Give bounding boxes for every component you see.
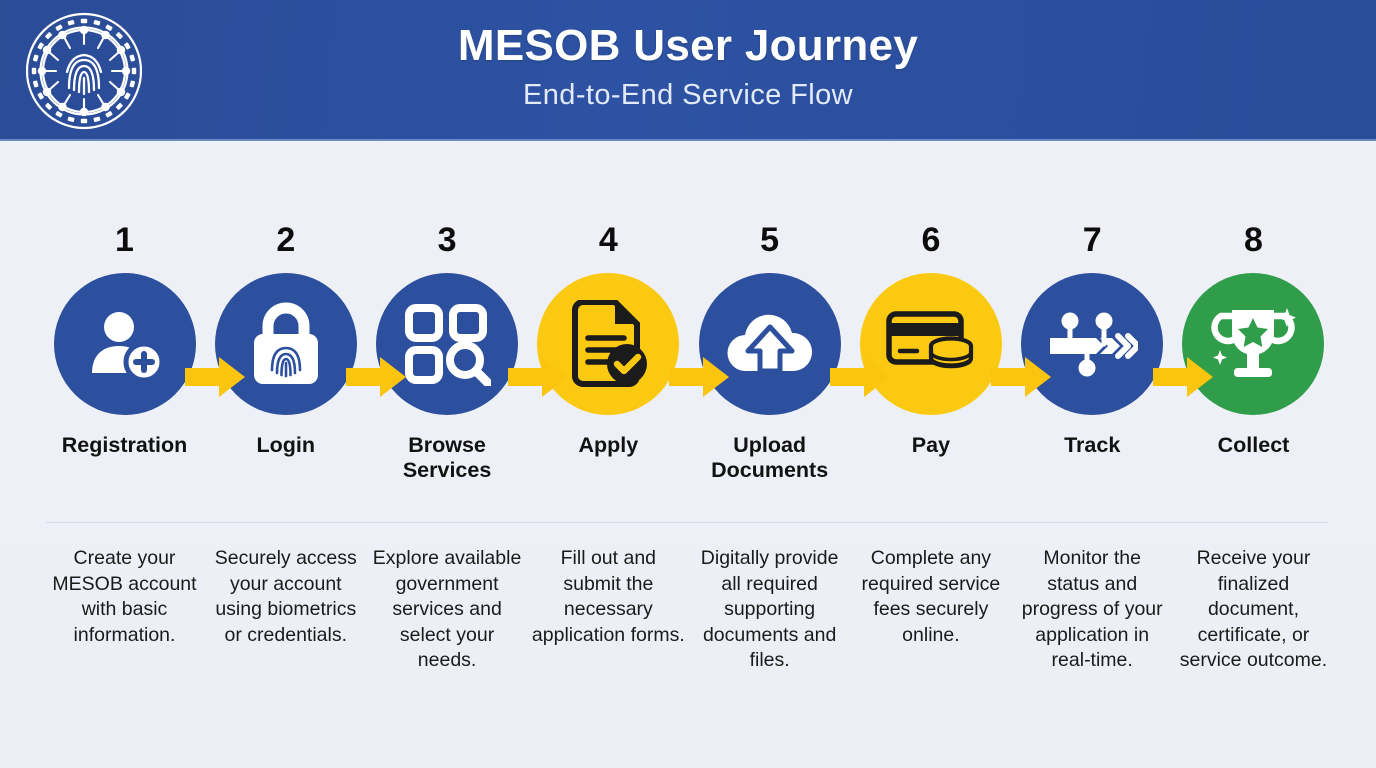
mesob-logo <box>18 8 150 134</box>
cloud-upload-icon <box>724 309 816 379</box>
page-subtitle: End-to-End Service Flow <box>458 80 918 112</box>
timeline-tracking-icon <box>1046 308 1138 380</box>
step-circle-registration[interactable] <box>54 273 196 415</box>
step-label: Upload Documents <box>695 433 845 484</box>
step-circle-browse-services[interactable] <box>376 273 518 415</box>
step-5[interactable]: 5Upload Documents <box>689 223 850 484</box>
step-description: Create your MESOB account with basic inf… <box>44 546 205 648</box>
grid-search-icon <box>403 302 491 386</box>
step-label: Registration <box>62 433 187 458</box>
document-check-icon <box>567 300 649 388</box>
infographic-page: MESOB User Journey End-to-End Service Fl… <box>0 0 1376 768</box>
step-circle-apply[interactable] <box>537 273 679 415</box>
fingerprint-seal-logo-icon <box>21 10 147 132</box>
step-description: Complete any required service fees secur… <box>850 546 1011 648</box>
step-7[interactable]: 7Track <box>1012 223 1173 458</box>
step-label: Pay <box>912 433 950 458</box>
step-label: Login <box>257 433 316 458</box>
page-header: MESOB User Journey End-to-End Service Fl… <box>0 0 1376 141</box>
step-number: 1 <box>115 223 134 257</box>
step-6[interactable]: 6Pay <box>850 223 1011 458</box>
step-circle-login[interactable] <box>215 273 357 415</box>
step-circle-pay[interactable] <box>860 273 1002 415</box>
step-4[interactable]: 4Apply <box>528 223 689 458</box>
step-description: Securely access your account using biome… <box>205 546 366 648</box>
step-number: 8 <box>1244 223 1263 257</box>
step-2[interactable]: 2Login <box>205 223 366 458</box>
step-description: Monitor the status and progress of your … <box>1012 546 1173 674</box>
credit-card-coins-icon <box>885 306 977 382</box>
step-number: 7 <box>1083 223 1102 257</box>
step-description: Digitally provide all required supportin… <box>689 546 850 674</box>
section-divider <box>46 522 1328 523</box>
step-description: Explore available government services an… <box>367 546 528 674</box>
step-8[interactable]: 8Collect <box>1173 223 1334 458</box>
step-number: 4 <box>599 223 618 257</box>
trophy-star-icon <box>1208 302 1298 386</box>
step-number: 3 <box>438 223 457 257</box>
step-label: Apply <box>578 433 638 458</box>
step-number: 6 <box>921 223 940 257</box>
step-label: Track <box>1064 433 1120 458</box>
add-user-icon <box>82 301 168 387</box>
descriptions-row: Create your MESOB account with basic inf… <box>44 546 1334 674</box>
header-text-block: MESOB User Journey End-to-End Service Fl… <box>458 23 918 115</box>
step-3[interactable]: 3Browse Services <box>367 223 528 484</box>
step-circle-track[interactable] <box>1021 273 1163 415</box>
page-title: MESOB User Journey <box>458 23 918 69</box>
step-number: 2 <box>276 223 295 257</box>
step-description: Receive your finalized document, certifi… <box>1173 546 1334 674</box>
steps-row: 1Registration2Login3Browse Services4Appl… <box>44 223 1334 484</box>
step-1[interactable]: 1Registration <box>44 223 205 458</box>
step-label: Browse Services <box>372 433 522 484</box>
step-circle-upload-documents[interactable] <box>699 273 841 415</box>
step-label: Collect <box>1218 433 1290 458</box>
step-number: 5 <box>760 223 779 257</box>
journey-flow: 1Registration2Login3Browse Services4Appl… <box>0 141 1376 768</box>
step-circle-collect[interactable] <box>1182 273 1324 415</box>
step-description: Fill out and submit the necessary applic… <box>528 546 689 648</box>
padlock-fingerprint-icon <box>244 300 328 388</box>
